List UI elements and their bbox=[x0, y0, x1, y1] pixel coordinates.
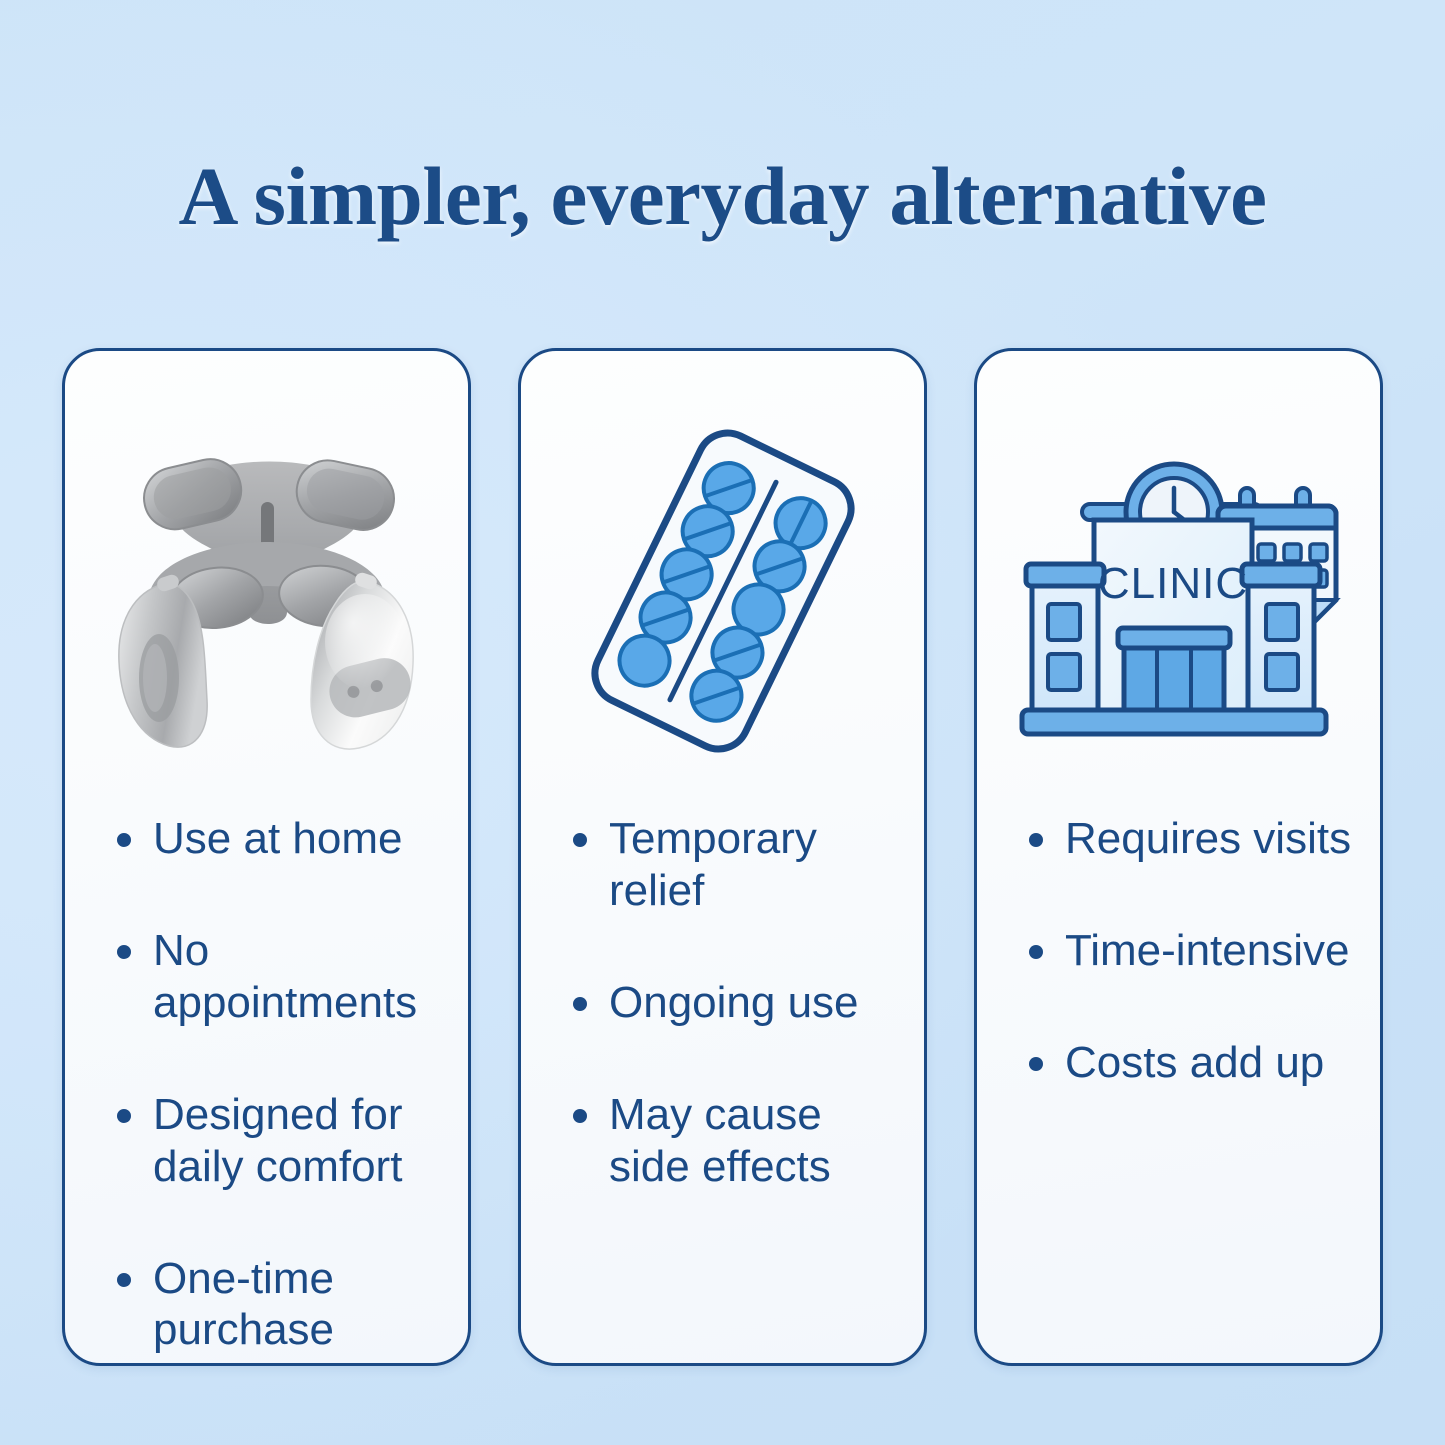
list-item-label: Time-intensive bbox=[1065, 925, 1352, 977]
clinic-card[interactable]: CLINIC Requires visits bbox=[974, 348, 1383, 1366]
list-item-label: May cause side effects bbox=[609, 1089, 896, 1193]
clinic-sign-text: CLINIC bbox=[1097, 559, 1247, 608]
bullet-dot-icon bbox=[1029, 833, 1043, 847]
list-item: Time-intensive bbox=[1029, 925, 1352, 977]
clinic-building-icon: CLINIC bbox=[1014, 426, 1344, 756]
list-item-label: One-time purchase bbox=[153, 1253, 440, 1357]
bullet-dot-icon bbox=[1029, 1057, 1043, 1071]
poster-canvas: A simpler, everyday alternative bbox=[0, 0, 1445, 1445]
bullet-dot-icon bbox=[573, 1109, 587, 1123]
bullet-dot-icon bbox=[1029, 945, 1043, 959]
list-item: May cause side effects bbox=[573, 1089, 896, 1193]
list-item-label: Use at home bbox=[153, 813, 440, 865]
list-item: One-time purchase bbox=[117, 1253, 440, 1357]
list-item-label: Ongoing use bbox=[609, 977, 896, 1029]
list-item: Use at home bbox=[117, 813, 440, 865]
comparison-cards-row: Use at home No appointments Designed for… bbox=[62, 348, 1383, 1366]
list-item: Designed for daily comfort bbox=[117, 1089, 440, 1193]
clinic-card-media: CLINIC bbox=[977, 351, 1380, 813]
list-item: Temporary relief bbox=[573, 813, 896, 917]
list-item: No appointments bbox=[117, 925, 440, 1029]
list-item-label: Costs add up bbox=[1065, 1037, 1352, 1089]
pill-blister-pack-icon bbox=[563, 416, 883, 766]
page-title: A simpler, everyday alternative bbox=[0, 148, 1445, 244]
bullet-dot-icon bbox=[573, 997, 587, 1011]
bullet-dot-icon bbox=[117, 833, 131, 847]
device-card-bullets: Use at home No appointments Designed for… bbox=[65, 813, 468, 1363]
list-item-label: Designed for daily comfort bbox=[153, 1089, 440, 1193]
list-item: Ongoing use bbox=[573, 977, 896, 1029]
bullet-dot-icon bbox=[573, 833, 587, 847]
list-item-label: Temporary relief bbox=[609, 813, 896, 917]
bullet-dot-icon bbox=[117, 1109, 131, 1123]
list-item-label: No appointments bbox=[153, 925, 440, 1029]
medication-card-bullets: Temporary relief Ongoing use May cause s… bbox=[521, 813, 924, 1363]
medication-card[interactable]: Temporary relief Ongoing use May cause s… bbox=[518, 348, 927, 1366]
clinic-card-bullets: Requires visits Time-intensive Costs add… bbox=[977, 813, 1380, 1363]
list-item: Requires visits bbox=[1029, 813, 1352, 865]
medication-card-media bbox=[521, 351, 924, 813]
device-card-media bbox=[65, 351, 468, 813]
neck-massager-device-photo bbox=[97, 416, 437, 766]
list-item: Costs add up bbox=[1029, 1037, 1352, 1089]
bullet-dot-icon bbox=[117, 1273, 131, 1287]
device-card[interactable]: Use at home No appointments Designed for… bbox=[62, 348, 471, 1366]
list-item-label: Requires visits bbox=[1065, 813, 1352, 865]
bullet-dot-icon bbox=[117, 945, 131, 959]
